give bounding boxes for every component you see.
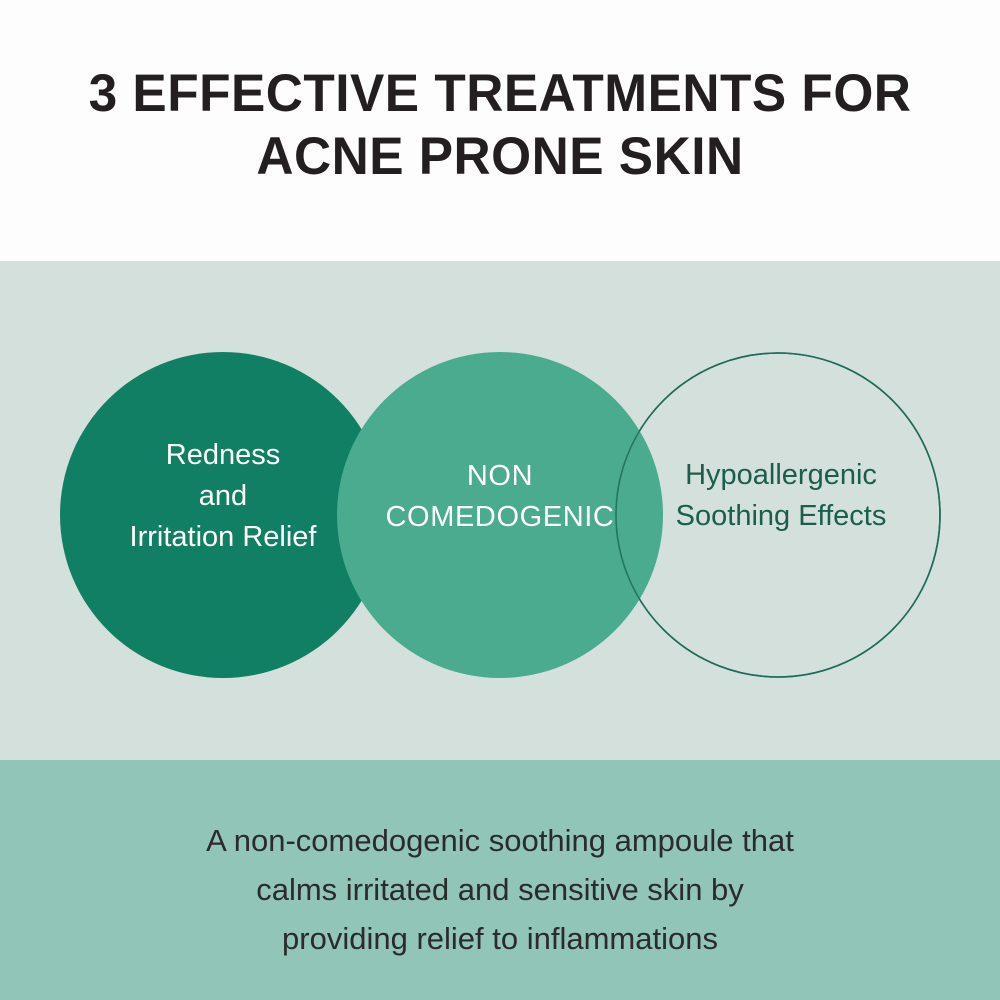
caption-band: A non-comedogenic soothing ampoule that …	[0, 760, 1000, 1000]
page-title-line-1: 3 EFFECTIVE TREATMENTS FOR	[15, 62, 985, 125]
page-title-line-2: ACNE PRONE SKIN	[15, 125, 985, 188]
page-title: 3 EFFECTIVE TREATMENTS FOR ACNE PRONE SK…	[15, 62, 985, 188]
product-description-line-2: calms irritated and sensitive skin by	[0, 865, 1000, 914]
header-band: 3 EFFECTIVE TREATMENTS FOR ACNE PRONE SK…	[0, 0, 1000, 261]
venn-circle-non-comedogenic	[337, 352, 663, 678]
venn-diagram-band: Redness and Irritation Relief NON COMEDO…	[0, 261, 1000, 760]
infographic-root: 3 EFFECTIVE TREATMENTS FOR ACNE PRONE SK…	[0, 0, 1000, 1000]
product-description-line-3: providing relief to inflammations	[0, 914, 1000, 963]
venn-diagram-graphic	[0, 261, 1000, 760]
venn-circle-hypoallergenic-outline-overlay	[616, 353, 940, 677]
venn-circle-hypoallergenic	[616, 353, 940, 677]
product-description-line-1: A non-comedogenic soothing ampoule that	[0, 816, 1000, 865]
product-description: A non-comedogenic soothing ampoule that …	[0, 816, 1000, 963]
